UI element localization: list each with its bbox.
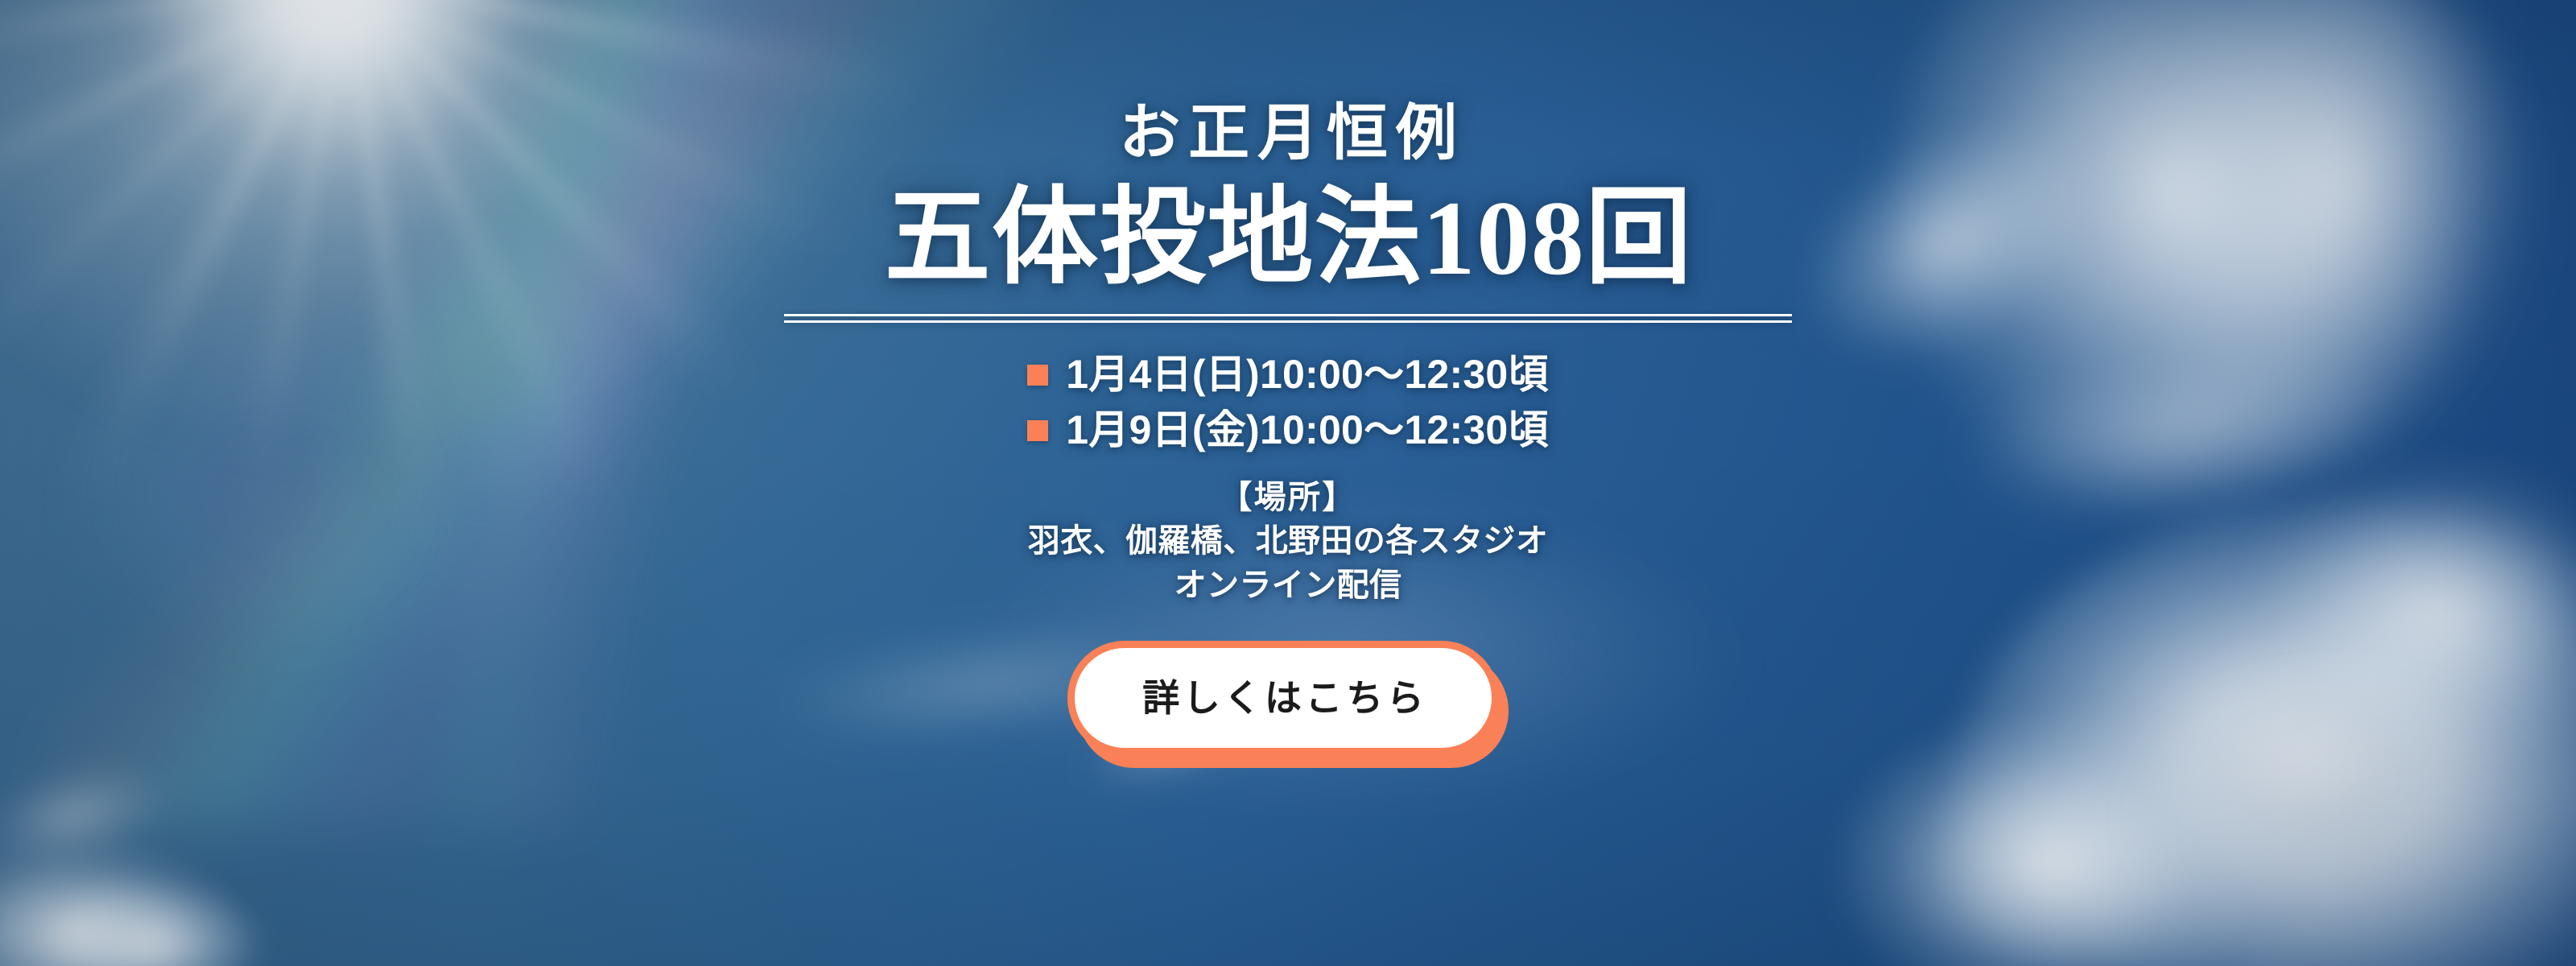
list-item: 1月9日(金)10:00〜12:30頃	[1027, 406, 1548, 455]
list-item: 1月4日(日)10:00〜12:30頃	[1027, 350, 1548, 399]
schedule-list: 1月4日(日)10:00〜12:30頃 1月9日(金)10:00〜12:30頃	[1027, 350, 1548, 455]
banner-content: お正月恒例 五体投地法108回 1月4日(日)10:00〜12:30頃 1月9日…	[0, 0, 2576, 966]
schedule-item-text: 1月9日(金)10:00〜12:30頃	[1066, 406, 1548, 455]
details-button-label: 詳しくはこちら	[1139, 679, 1428, 716]
details-button[interactable]: 詳しくはこちら	[1067, 641, 1499, 755]
venue-studios: 羽衣、伽羅橋、北野田の各スタジオ	[1028, 519, 1548, 563]
square-bullet-icon	[1027, 365, 1048, 386]
schedule-item-text: 1月4日(日)10:00〜12:30頃	[1066, 350, 1548, 399]
square-bullet-icon	[1027, 420, 1048, 441]
cta-container: 詳しくはこちら	[1067, 641, 1509, 768]
venue-block: 【場所】 羽衣、伽羅橋、北野田の各スタジオ オンライン配信	[1028, 476, 1548, 607]
promo-banner: お正月恒例 五体投地法108回 1月4日(日)10:00〜12:30頃 1月9日…	[0, 0, 2576, 966]
venue-heading: 【場所】	[1028, 476, 1548, 519]
eyebrow-text: お正月恒例	[1111, 103, 1464, 164]
venue-online: オンライン配信	[1028, 563, 1548, 607]
page-title: 五体投地法108回	[883, 185, 1693, 291]
title-divider	[784, 314, 1792, 323]
